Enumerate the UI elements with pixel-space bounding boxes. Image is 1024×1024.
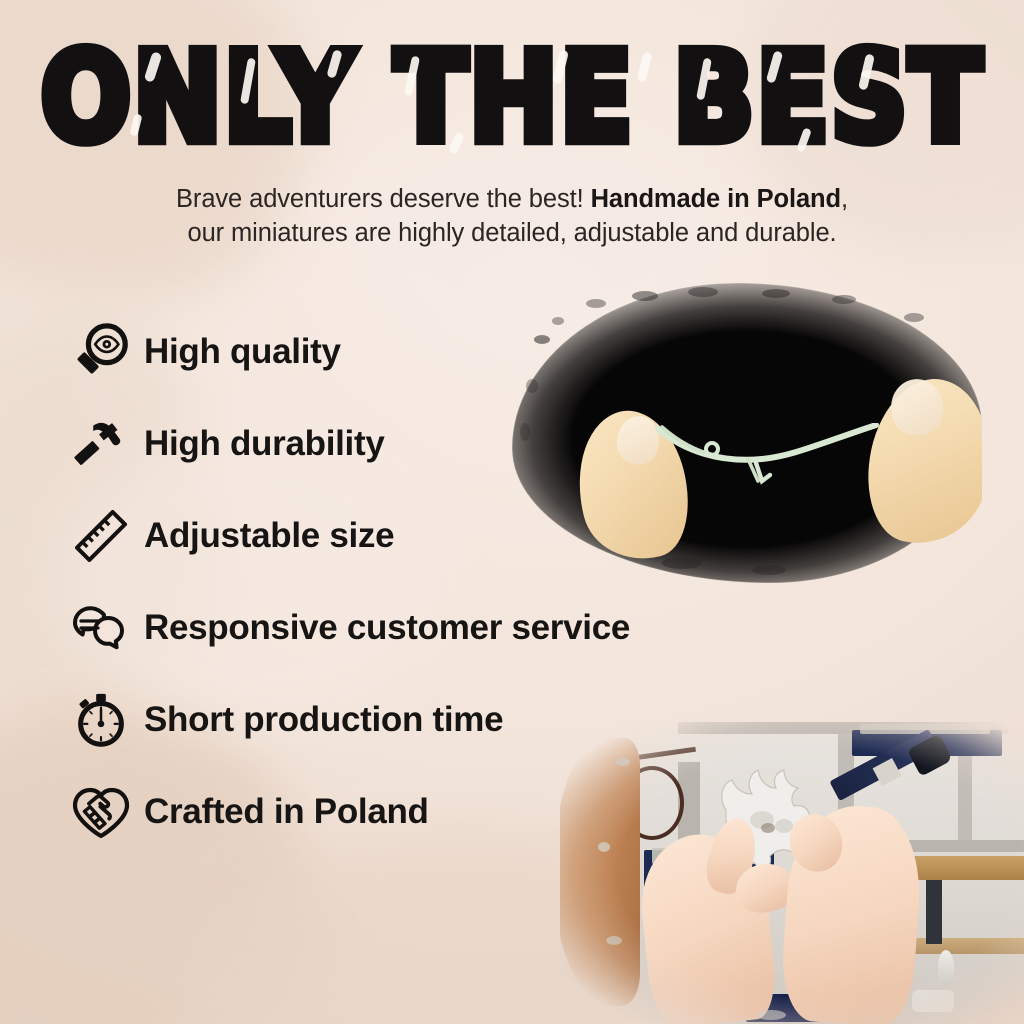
subtitle-line-2: our miniatures are highly detailed, adju… bbox=[0, 217, 1024, 251]
subtitle-text-before: Brave adventurers deserve the best! bbox=[176, 185, 591, 213]
torn-edge-fleck bbox=[662, 557, 702, 569]
photo-torn-mask bbox=[560, 722, 1024, 1024]
page-title: ONLY THE BEST bbox=[41, 36, 984, 159]
torn-edge-fleck bbox=[552, 317, 564, 325]
torn-edge-fleck bbox=[762, 289, 790, 298]
thumbnail bbox=[890, 378, 944, 436]
feature-label: Adjustable size bbox=[144, 516, 394, 556]
hammer-icon bbox=[62, 413, 140, 475]
torn-edge-fleck bbox=[598, 842, 610, 852]
torn-edge-fleck bbox=[756, 1010, 786, 1020]
subtitle-text-after: , bbox=[841, 185, 848, 213]
torn-edge-fleck bbox=[688, 287, 718, 297]
headline-container: ONLY THE BEST bbox=[0, 36, 1024, 140]
shelf-post bbox=[926, 880, 942, 944]
feature-label: High quality bbox=[144, 332, 341, 372]
torn-edge-fleck bbox=[586, 299, 606, 308]
torn-edge-fleck bbox=[526, 379, 538, 393]
heart-handshake-icon bbox=[62, 780, 140, 844]
subtitle: Brave adventurers deserve the best! Hand… bbox=[0, 183, 1024, 250]
torn-edge-accent bbox=[560, 738, 640, 1006]
subtitle-bold-phrase: Handmade in Poland bbox=[591, 185, 841, 213]
torn-edge-fleck bbox=[832, 295, 856, 304]
miniature-parts bbox=[912, 990, 954, 1012]
torn-edge-fleck bbox=[632, 291, 658, 301]
feature-item-customer-service: Responsive customer service bbox=[62, 582, 762, 674]
torn-edge-fleck bbox=[534, 335, 550, 344]
torn-edge-fleck bbox=[752, 565, 786, 575]
torn-edge-fleck bbox=[606, 936, 622, 945]
speech-bubbles-icon bbox=[62, 596, 140, 660]
feature-label: Responsive customer service bbox=[144, 608, 630, 648]
flexible-miniature-photo bbox=[512, 283, 982, 583]
magnifier-eye-icon bbox=[62, 321, 140, 383]
torn-edge-fleck bbox=[520, 423, 530, 441]
workshop-painting-photo bbox=[560, 722, 1024, 1024]
flexible-miniature-part bbox=[652, 423, 882, 487]
miniature-figure bbox=[938, 950, 954, 984]
feature-label: High durability bbox=[144, 424, 385, 464]
ruler-icon bbox=[62, 505, 140, 567]
stopwatch-icon bbox=[62, 689, 140, 751]
wooden-shelf bbox=[912, 856, 1024, 880]
torn-edge-fleck bbox=[616, 758, 630, 766]
feature-label: Crafted in Poland bbox=[144, 792, 429, 832]
torn-edge-fleck bbox=[904, 313, 924, 322]
subtitle-line-1: Brave adventurers deserve the best! Hand… bbox=[0, 183, 1024, 217]
poster-canvas: ONLY THE BEST Brave adventurers deserve … bbox=[0, 0, 1024, 1024]
feature-label: Short production time bbox=[144, 700, 503, 740]
